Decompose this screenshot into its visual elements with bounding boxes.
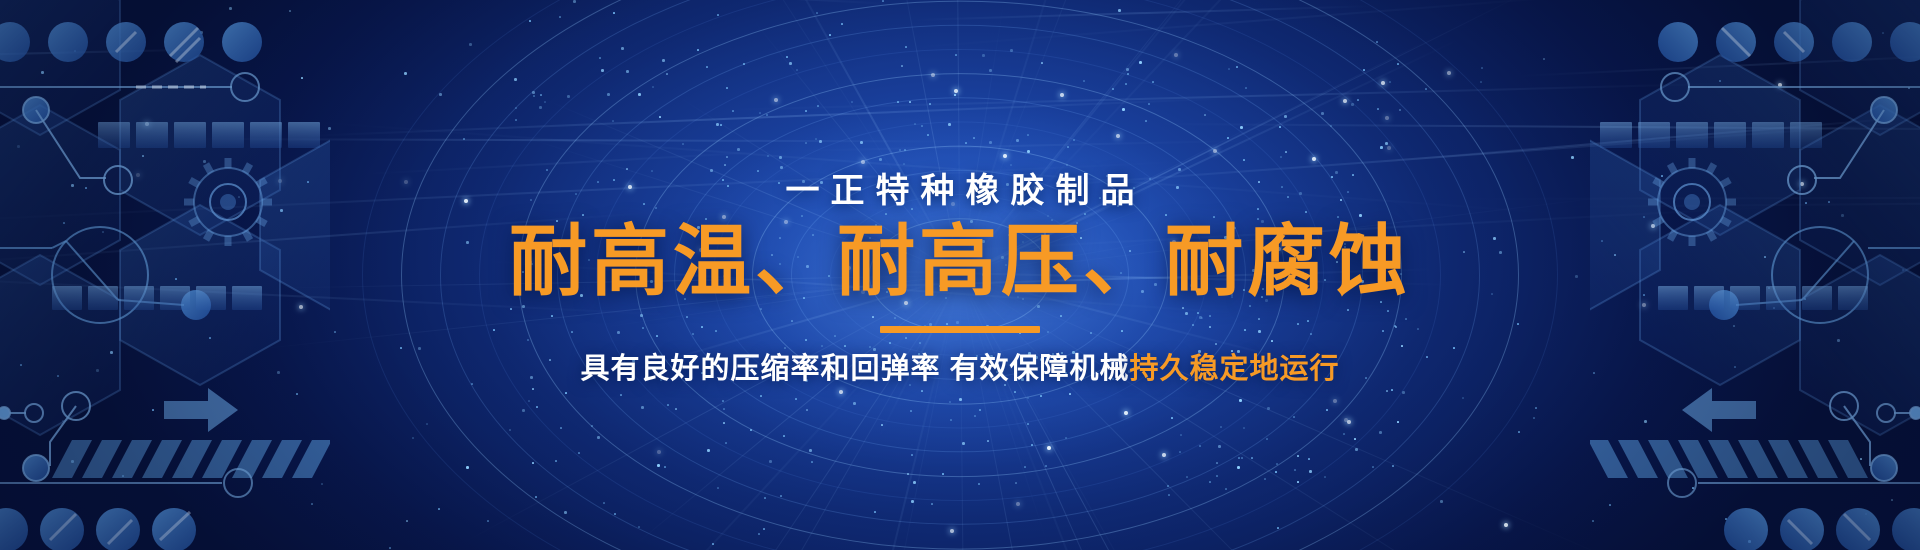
tagline-plain-text: 具有良好的压缩率和回弹率 有效保障机械 — [580, 353, 1129, 385]
banner-tagline: 具有良好的压缩率和回弹率 有效保障机械持久稳定地运行 — [509, 355, 1411, 384]
headline-divider — [880, 326, 1040, 333]
hero-banner: 一正特种橡胶制品 耐高温、耐高压、耐腐蚀 具有良好的压缩率和回弹率 有效保障机械… — [0, 0, 1920, 550]
banner-copy: 一正特种橡胶制品 耐高温、耐高压、耐腐蚀 具有良好的压缩率和回弹率 有效保障机械… — [0, 0, 1920, 550]
banner-headline: 耐高温、耐高压、耐腐蚀 — [509, 222, 1411, 300]
tagline-highlight-text: 持久稳定地运行 — [1130, 353, 1340, 385]
banner-eyebrow: 一正特种橡胶制品 — [509, 174, 1411, 208]
